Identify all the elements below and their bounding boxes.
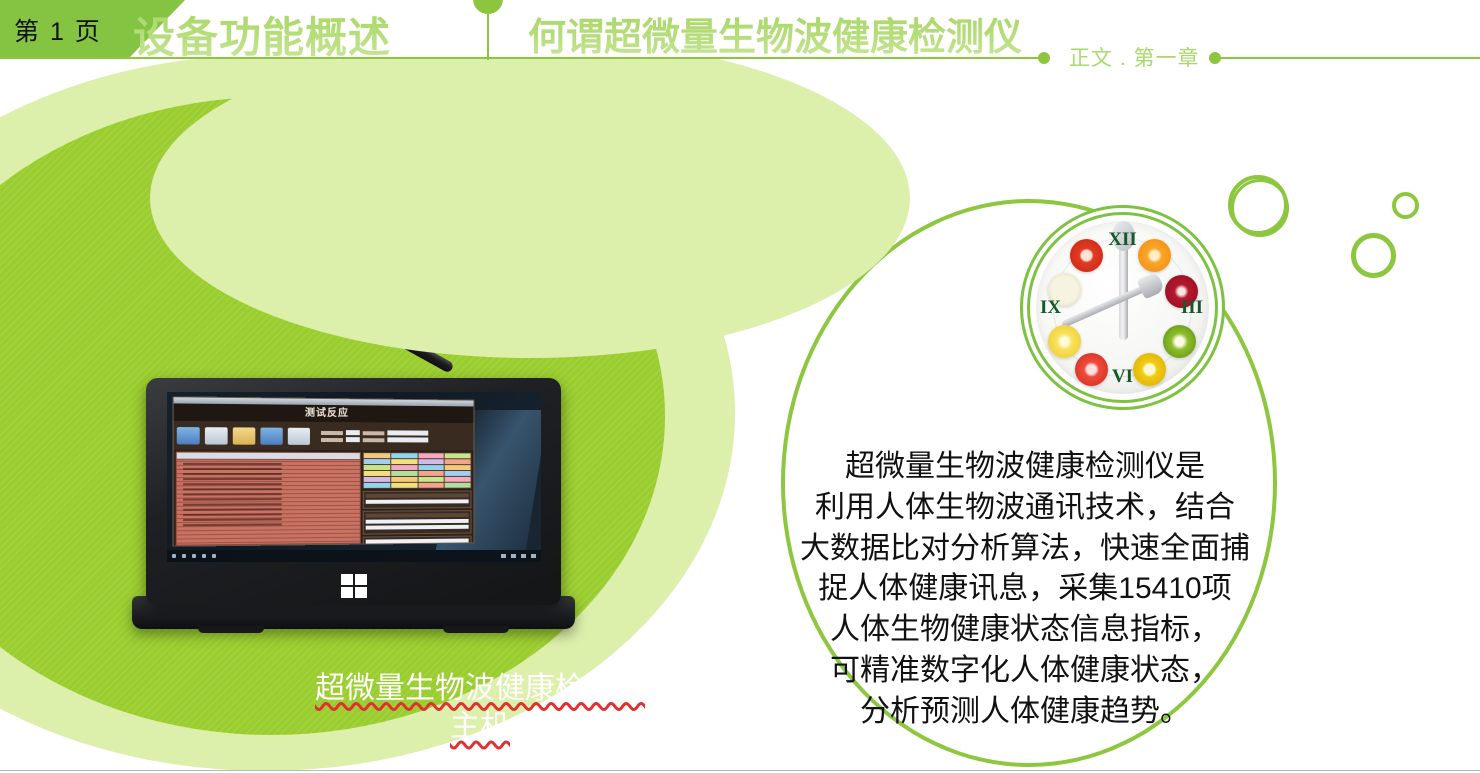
- header-rule-dot-right-icon: [1209, 52, 1221, 64]
- food-tomato-pink-slice-icon: [1075, 353, 1108, 386]
- base-foot-left: [198, 626, 264, 633]
- windows-taskbar: [167, 550, 541, 562]
- food-orange-slice-icon: [1138, 239, 1171, 272]
- body-paragraph: 超微量生物波健康检测仪是 利用人体生物波通讯技术，结合 大数据比对分析算法，快速…: [782, 447, 1268, 733]
- header-arc-decoration: [150, 38, 910, 358]
- food-yellow-pepper-slice-icon: [1133, 353, 1166, 386]
- data-grid-header: [177, 453, 360, 460]
- header-rule-left: [0, 57, 1043, 59]
- decor-bubble-large-inner-icon: [1231, 179, 1289, 237]
- device-tablet-body: 测试反应: [146, 378, 561, 605]
- body-line-1: 超微量生物波健康检测仪是: [782, 447, 1268, 488]
- slide-title: 何谓超微量生物波健康检测仪: [528, 6, 1022, 61]
- software-color-table: [363, 452, 472, 489]
- taskbar-left-icons: [172, 554, 216, 558]
- taskbar-tray-icons: [501, 554, 536, 558]
- body-line-4: 捉人体健康讯息，采集15410项: [782, 569, 1268, 610]
- header-rule-dot-left-icon: [1038, 52, 1050, 64]
- food-lemon-slice-icon: [1048, 325, 1081, 358]
- body-line-5: 人体生物健康状态信息指标，: [782, 610, 1268, 651]
- clock-numeral-12: XII: [1108, 229, 1137, 251]
- page-number-label: 第 1 页: [14, 12, 102, 48]
- section-title: 设备功能概述: [133, 4, 391, 65]
- device-screen: 测试反应: [167, 392, 541, 562]
- chapter-label: 正文 . 第一章: [1069, 42, 1200, 72]
- clock-numeral-6: VI: [1112, 366, 1133, 388]
- software-input-panel: [363, 491, 472, 509]
- food-kiwi-slice-icon: [1163, 325, 1196, 358]
- slide-header: 第 1 页 设备功能概述 何谓超微量生物波健康检测仪 正文 . 第一章: [0, 0, 1480, 80]
- software-right-pane: [363, 452, 472, 543]
- toolbar-icon-2: [205, 427, 228, 444]
- software-toolbar: [174, 421, 474, 451]
- data-grid-rows: [183, 463, 282, 529]
- header-rule-right: [1220, 57, 1480, 59]
- toolbar-icon-3: [233, 427, 256, 444]
- food-clock-graphic: XII III VI IX: [1020, 205, 1225, 410]
- device-caption-line-1: 超微量生物波健康检测仪: [315, 670, 645, 708]
- software-main-area: [174, 449, 474, 546]
- body-line-2: 利用人体生物波通讯技术，结合: [782, 488, 1268, 529]
- toolbar-icon-4: [260, 427, 282, 444]
- body-line-3: 大数据比对分析算法，快速全面捕: [782, 529, 1268, 570]
- decor-bubble-small-icon: [1392, 192, 1419, 219]
- body-line-6: 可精准数字化人体健康状态，: [782, 651, 1268, 692]
- clock-numeral-9: IX: [1040, 297, 1061, 319]
- clock-numeral-3: III: [1181, 297, 1203, 319]
- device-caption-line-2: 主机: [450, 708, 510, 746]
- base-foot-right: [443, 626, 509, 633]
- title-divider: [487, 8, 489, 60]
- software-title: 测试反应: [174, 403, 474, 423]
- software-memo-panel: [363, 510, 472, 535]
- bottom-hairline: [0, 770, 1480, 771]
- software-data-grid: [176, 452, 361, 546]
- software-window: 测试反应: [173, 396, 475, 546]
- device-caption: 超微量生物波健康检测仪 主机: [130, 670, 830, 747]
- food-tomato-red-slice-icon: [1070, 239, 1103, 272]
- toolbar-fields: [321, 430, 428, 442]
- windows-logo-icon: [341, 574, 367, 598]
- decor-bubble-medium-icon: [1351, 233, 1396, 278]
- slide-canvas: 测试反应: [0, 0, 1480, 773]
- body-line-7: 分析预测人体健康趋势。: [782, 692, 1268, 733]
- toolbar-icon-5: [288, 427, 310, 444]
- toolbar-icon-1: [177, 426, 200, 443]
